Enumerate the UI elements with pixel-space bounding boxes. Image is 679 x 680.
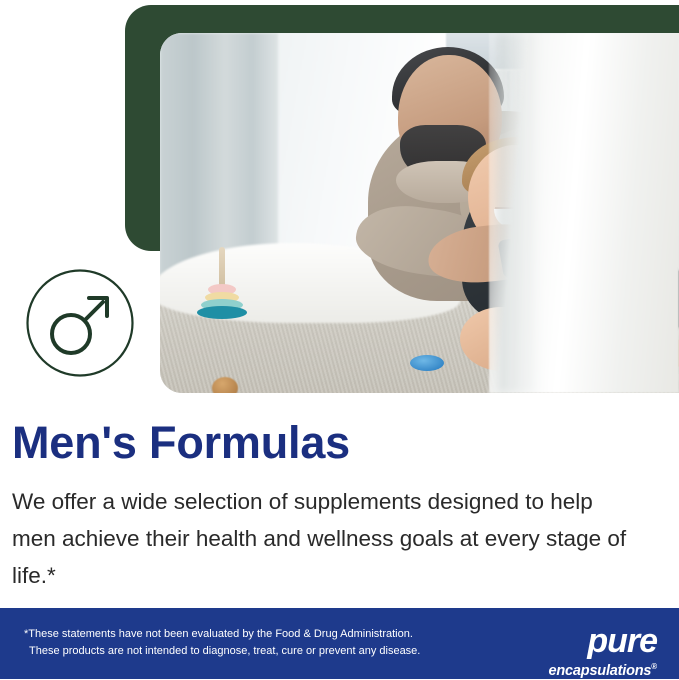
blue-ring-toy — [410, 355, 444, 371]
brand-logo: pure encapsulations® — [515, 624, 657, 680]
brand-tagline-text: encapsulations — [549, 663, 652, 679]
white-sheer-curtain — [489, 33, 679, 393]
hero-photo — [160, 33, 679, 393]
intro-copy: We offer a wide selection of supplements… — [12, 483, 638, 594]
page-title: Men's Formulas — [12, 415, 350, 471]
brand-tagline: encapsulations® — [515, 658, 657, 680]
male-symbol-icon — [25, 268, 135, 378]
wooden-ball-toy — [212, 377, 238, 393]
brand-name: pure — [515, 624, 657, 658]
stacking-ring-toy — [198, 245, 246, 321]
disclaimer-line-2: These products are not intended to diagn… — [24, 643, 464, 660]
disclaimer-line-1: *These statements have not been evaluate… — [24, 628, 413, 640]
footer-bar: *These statements have not been evaluate… — [0, 608, 679, 679]
registered-trademark-icon: ® — [651, 662, 657, 671]
photo-scene — [160, 33, 679, 393]
disclaimer-text: *These statements have not been evaluate… — [24, 626, 464, 660]
toy-ring-blue — [197, 306, 247, 319]
